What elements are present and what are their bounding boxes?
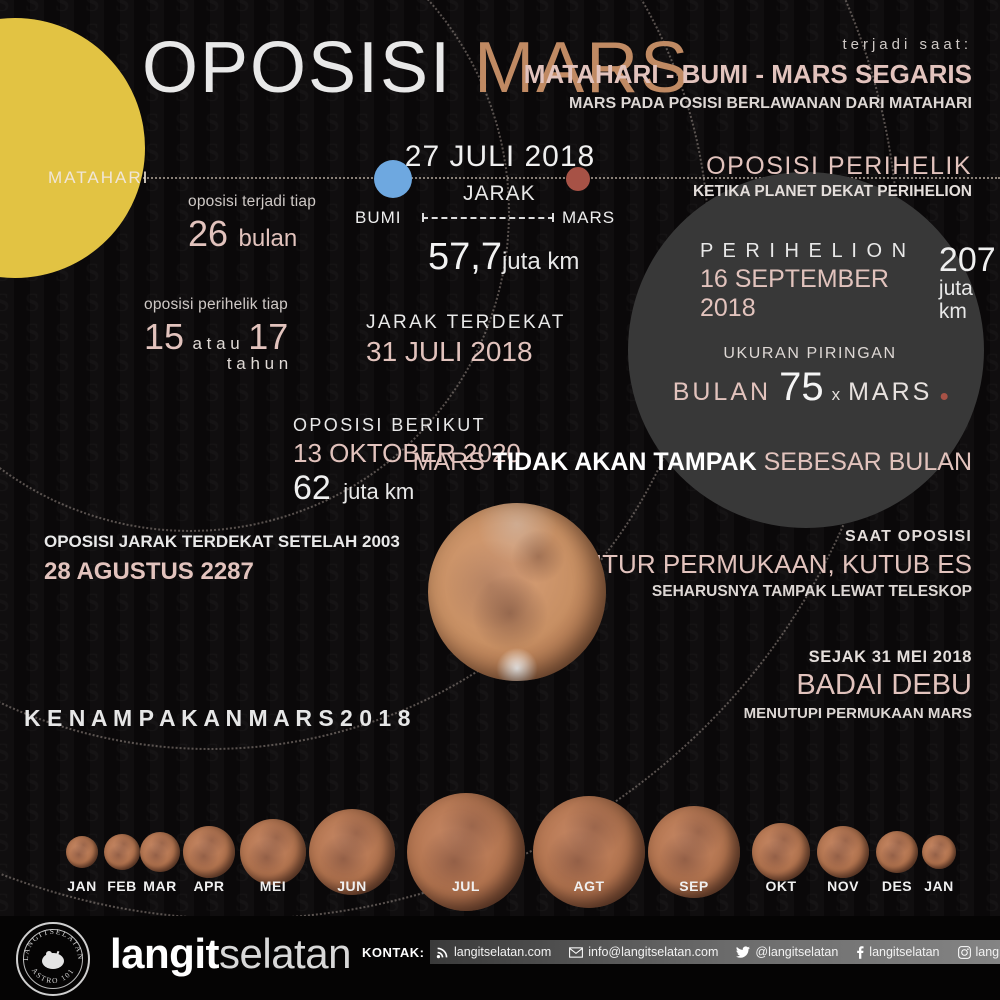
mars-disc-nov-10 bbox=[817, 826, 869, 878]
month-label-mei-4: MEI bbox=[260, 878, 286, 894]
twitter-icon bbox=[736, 946, 750, 958]
month-label-jan-0: JAN bbox=[67, 878, 97, 894]
title-part-oposisi: OPOSISI bbox=[142, 28, 452, 108]
surface-features-block: SAAT OPOSISI FITUR PERMUKAAN, KUTUB ES S… bbox=[579, 528, 972, 601]
closest-distance-block: JARAK TERDEKAT 31 JULI 2018 bbox=[366, 312, 566, 368]
perihelion-distance-unit: juta km bbox=[939, 277, 1000, 323]
disk-size-times: x bbox=[832, 385, 841, 405]
surface-subline: SEHARUSNYA TAMPAK LEWAT TELESKOP bbox=[579, 583, 972, 601]
month-label-mar-2: MAR bbox=[143, 878, 176, 894]
perihelic-frequency-label: oposisi perihelik tiap bbox=[144, 296, 288, 314]
perihelic-frequency-value-2: 17 bbox=[248, 316, 288, 357]
kontak-label: KONTAK: bbox=[362, 945, 424, 960]
disk-size-label: UKURAN PIRINGAN bbox=[673, 345, 948, 363]
closest-after-2003-label: OPOSISI JARAK TERDEKAT SETELAH 2003 bbox=[44, 532, 400, 552]
contact-text: langitselatan bbox=[869, 945, 939, 959]
header-kicker: terjadi saat: bbox=[524, 36, 972, 53]
contact-facebook[interactable]: langitselatan bbox=[856, 945, 939, 959]
mars-disc-apr-3 bbox=[183, 826, 235, 878]
infographic-poster: SSSSSSSSSSSSSSSSSSSSSSSSSSSSSSSSSSSSSSSS… bbox=[0, 0, 1000, 1000]
earth-label: BUMI bbox=[355, 208, 402, 228]
month-label-jan-12: JAN bbox=[924, 878, 954, 894]
contact-text: langitselatan.com bbox=[454, 945, 551, 959]
distance-value-block: 57,7juta km bbox=[428, 236, 579, 279]
perihelic-subheading: KETIKA PLANET DEKAT PERIHELION bbox=[693, 183, 972, 201]
next-opposition-label: OPOSISI BERIKUT bbox=[293, 415, 521, 436]
distance-caption: JARAK bbox=[463, 182, 536, 206]
closest-distance-date: 31 JULI 2018 bbox=[366, 336, 566, 368]
perihelic-frequency-value-1: 15 bbox=[144, 316, 184, 357]
perihelic-frequency-conjunction: a t a u bbox=[193, 334, 240, 353]
appearance-title: K E N A M P A K A N M A R S 2 0 1 8 bbox=[24, 705, 410, 732]
month-label-des-11: DES bbox=[882, 878, 912, 894]
next-opposition-unit: juta km bbox=[343, 479, 414, 504]
distance-value: 57,7 bbox=[428, 236, 502, 278]
langitselatan-logo-icon: LANGITSELATAN ASTRO 101 bbox=[16, 922, 90, 996]
instagram-icon bbox=[958, 946, 971, 959]
brand-light: selatan bbox=[219, 930, 351, 977]
mars-photograph bbox=[428, 503, 606, 681]
opposition-date-block: 27 JULI 2018 bbox=[405, 140, 595, 174]
month-label-sep-8: SEP bbox=[679, 878, 709, 894]
closest-after-2003-date: 28 AGUSTUS 2287 bbox=[44, 558, 400, 586]
opposition-frequency-value: 26 bbox=[188, 213, 228, 254]
brand-wordmark: langitselatan bbox=[110, 930, 351, 978]
facebook-icon bbox=[856, 946, 864, 959]
mars-label: MARS bbox=[562, 208, 615, 228]
month-label-agt-7: AGT bbox=[573, 878, 604, 894]
contact-twitter[interactable]: @langitselatan bbox=[736, 945, 838, 959]
brand-bold: langit bbox=[110, 930, 219, 977]
month-label-apr-3: APR bbox=[193, 878, 224, 894]
next-opposition-value: 62 bbox=[293, 469, 331, 507]
disk-size-mars: MARS bbox=[848, 378, 932, 407]
contact-instagram[interactable]: langitselatanmedia bbox=[958, 945, 1000, 959]
closest-distance-label: JARAK TERDEKAT bbox=[366, 312, 566, 334]
dust-storm-block: SEJAK 31 MEI 2018 BADAI DEBU MENUTUPI PE… bbox=[744, 648, 972, 722]
header-right-block: terjadi saat: MATAHARI - BUMI - MARS SEG… bbox=[524, 36, 972, 113]
header-headline: MATAHARI - BUMI - MARS SEGARIS bbox=[524, 59, 972, 90]
disk-size-moon: BULAN bbox=[673, 378, 771, 407]
surface-kicker: SAAT OPOSISI bbox=[579, 528, 972, 546]
contact-envelope[interactable]: info@langitselatan.com bbox=[569, 945, 718, 959]
mars-disc-des-11 bbox=[876, 831, 918, 873]
disk-size-block: UKURAN PIRINGAN BULAN 75 x MARS bbox=[673, 345, 948, 410]
month-label-nov-10: NOV bbox=[827, 878, 859, 894]
distance-unit: juta km bbox=[502, 248, 579, 275]
header-subline: MARS PADA POSISI BERLAWANAN DARI MATAHAR… bbox=[524, 95, 972, 113]
perihelic-heading: OPOSISI PERIHELIK bbox=[693, 152, 972, 181]
perihelic-frequency-block: oposisi perihelik tiap 15 a t a u 17 t a… bbox=[144, 296, 288, 374]
envelope-icon bbox=[569, 947, 583, 958]
mars-disc-mar-2 bbox=[140, 832, 180, 872]
tiny-mars-dot-icon bbox=[940, 393, 947, 400]
mars-disc-jan-12 bbox=[922, 835, 956, 869]
mars-disc-mei-4 bbox=[240, 819, 306, 885]
opposition-frequency-unit: bulan bbox=[239, 225, 298, 252]
month-label-okt-9: OKT bbox=[765, 878, 796, 894]
contact-bar[interactable]: langitselatan.cominfo@langitselatan.com@… bbox=[430, 940, 1000, 964]
statement-bold: TIDAK AKAN TAMPAK bbox=[492, 448, 757, 476]
contact-text: langitselatanmedia bbox=[976, 945, 1000, 959]
contact-text: info@langitselatan.com bbox=[588, 945, 718, 959]
perihelion-details-block: P E R I H E L I O N 16 SEPTEMBER 2018 20… bbox=[700, 240, 1000, 323]
disk-size-factor: 75 bbox=[779, 365, 824, 410]
statement-pre: MARS bbox=[413, 448, 492, 476]
perihelic-opposition-block: OPOSISI PERIHELIK KETIKA PLANET DEKAT PE… bbox=[693, 152, 972, 201]
dust-storm-headline: BADAI DEBU bbox=[744, 669, 972, 702]
month-label-feb-1: FEB bbox=[107, 878, 137, 894]
statement-post: SEBESAR BULAN bbox=[757, 448, 972, 476]
sun-label: MATAHARI bbox=[48, 168, 149, 188]
perihelion-label: P E R I H E L I O N bbox=[700, 240, 927, 263]
dust-storm-kicker: SEJAK 31 MEI 2018 bbox=[744, 648, 972, 667]
month-label-jun-5: JUN bbox=[337, 878, 367, 894]
closest-after-2003-block: OPOSISI JARAK TERDEKAT SETELAH 2003 28 A… bbox=[44, 532, 400, 586]
opposition-frequency-block: oposisi terjadi tiap 26 bulan bbox=[188, 193, 316, 255]
mars-disc-feb-1 bbox=[104, 834, 140, 870]
surface-headline: FITUR PERMUKAAN, KUTUB ES bbox=[579, 549, 972, 580]
mars-disc-okt-9 bbox=[752, 823, 810, 881]
rss-icon bbox=[436, 946, 449, 959]
distance-measure-line bbox=[422, 213, 554, 222]
opposition-date: 27 JULI 2018 bbox=[405, 140, 595, 174]
perihelion-date: 16 SEPTEMBER 2018 bbox=[700, 265, 927, 323]
opposition-frequency-label: oposisi terjadi tiap bbox=[188, 193, 316, 211]
contact-text: @langitselatan bbox=[755, 945, 838, 959]
perihelion-distance-value: 207 bbox=[939, 243, 1000, 277]
month-label-jul-6: JUL bbox=[452, 878, 480, 894]
mars-disc-jan-0 bbox=[66, 836, 98, 868]
dust-storm-subline: MENUTUPI PERMUKAAN MARS bbox=[744, 705, 972, 722]
disk-size-statement: MARS TIDAK AKAN TAMPAK SEBESAR BULAN bbox=[413, 448, 972, 477]
contact-rss[interactable]: langitselatan.com bbox=[436, 945, 551, 959]
